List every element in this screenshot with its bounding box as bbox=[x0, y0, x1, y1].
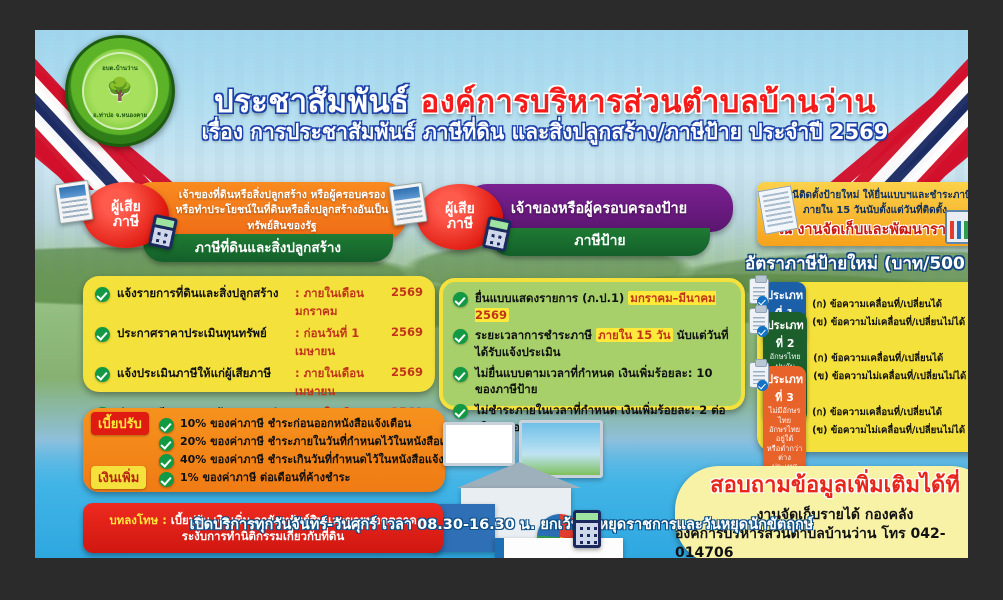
penalty-card: เบี้ยปรับ10% ของค่าภาษี ชำระก่อนออกหนังส… bbox=[83, 408, 445, 492]
check-icon bbox=[159, 454, 174, 469]
check-icon bbox=[453, 292, 468, 307]
monitor-chart-icon bbox=[945, 210, 968, 244]
land-tax-tag: ภาษีที่ดินและสิ่งปลูกสร้าง bbox=[143, 234, 393, 262]
penalty-tag-slot: เบี้ยปรับ bbox=[91, 412, 153, 435]
schedule-item-year: 2569 bbox=[387, 285, 423, 299]
logo-top-text: อบต.บ้านว่าน bbox=[84, 63, 156, 73]
document-icon-sign bbox=[388, 182, 427, 226]
logo-bottom-text: อ.ท่าบ่อ จ.หนองคาย bbox=[84, 110, 156, 120]
schedule-item-label: ประกาศราคาประเมินทุนทรัพย์ bbox=[117, 325, 295, 343]
sign-rate-table-card: ประเภทที่ 1อักษรไทยล้วน(ก) ข้อความเคลื่อ… bbox=[757, 282, 968, 452]
rate-label-b: (ข) ข้อความไม่เคลื่อนที่/เปลี่ยนไม่ได้ bbox=[813, 369, 966, 384]
rate-category-subtitle: ไม่มีอักษรไทย อักษรไทยอยู่ใต้ หรือต่ำกว่… bbox=[766, 406, 803, 472]
calculator-icon-illustration bbox=[573, 510, 601, 548]
sign-tax-item-text: ยื่นแบบแสดงรายการ (ภ.ป.1) bbox=[475, 291, 628, 305]
rate-category-title: ประเภทที่ 3 bbox=[766, 370, 803, 406]
sign-tax-item-highlight: ภายใน 15 วัน bbox=[596, 328, 673, 342]
check-icon bbox=[453, 367, 468, 382]
contact-heading: สอบถามข้อมูลเพิ่มเติมได้ที่ bbox=[710, 467, 960, 502]
sign-tax-item-text: ระยะเวลาการชำระภาษี bbox=[475, 328, 596, 342]
page-subtitle: เรื่อง การประชาสัมพันธ์ ภาษีที่ดิน และสิ… bbox=[195, 116, 895, 149]
notebook-icon bbox=[495, 538, 623, 558]
document-icon-land bbox=[54, 180, 93, 224]
schedule-item: ประกาศราคาประเมินทุนทรัพย์: ก่อนวันที่ 1… bbox=[95, 325, 423, 361]
new-sign-notice-box: กรณีติดตั้งป้ายใหม่ ให้ยื่นแบบฯและชำระภา… bbox=[757, 182, 968, 246]
municipality-logo: อบต.บ้านว่าน 🌳 อ.ท่าบ่อ จ.หนองคาย bbox=[65, 35, 175, 147]
sign-tax-tag: ภาษีป้าย bbox=[490, 228, 710, 256]
taxpayer-badge-sign-line2: ภาษี bbox=[447, 217, 473, 232]
sign-tax-card: ยื่นแบบแสดงรายการ (ภ.ป.1) มกราคม–มีนาคม … bbox=[439, 278, 745, 410]
penalty-tag-slot: เงินเพิ่ม bbox=[91, 466, 153, 489]
poster-header: อบต.บ้านว่าน 🌳 อ.ท่าบ่อ จ.หนองคาย ประชาส… bbox=[35, 30, 968, 148]
rate-label-b: (ข) ข้อความไม่เคลื่อนที่/เปลี่ยนไม่ได้ bbox=[812, 315, 965, 330]
rate-label-a: (ก) ข้อความเคลื่อนที่/เปลี่ยนได้ bbox=[812, 297, 965, 312]
title-blue-part: ประชาสัมพันธ์ bbox=[214, 84, 409, 120]
sign-tax-list: ยื่นแบบแสดงรายการ (ภ.ป.1) มกราคม–มีนาคม … bbox=[453, 290, 731, 435]
check-icon bbox=[453, 404, 468, 419]
check-icon bbox=[95, 367, 110, 382]
check-icon bbox=[159, 436, 174, 451]
taxpayer-badge-sign-line1: ผู้เสีย bbox=[445, 202, 475, 217]
schedule-item-label: แจ้งรายการที่ดินและสิ่งปลูกสร้าง bbox=[117, 285, 295, 303]
penalty-row: เบี้ยปรับ10% ของค่าภาษี ชำระก่อนออกหนังส… bbox=[91, 414, 437, 432]
taxpayer-badge-land-line2: ภาษี bbox=[113, 215, 139, 230]
title-red-part: องค์การบริหารส่วนตำบลบ้านว่าน bbox=[421, 84, 876, 120]
billboard-blank-icon bbox=[443, 422, 515, 466]
check-icon bbox=[159, 418, 174, 433]
land-tax-tag-label: ภาษีที่ดินและสิ่งปลูกสร้าง bbox=[195, 236, 341, 258]
service-hours-text: เปิดบริการทุกวันจันทร์-วันศุกร์ เวลา 08.… bbox=[35, 513, 968, 536]
schedule-item-when: : ก่อนวันที่ 1 เมษายน bbox=[295, 325, 387, 361]
notice-line-3: ณ งานจัดเก็บและพัฒนารายได้ bbox=[779, 218, 968, 241]
penalty-rows: เบี้ยปรับ10% ของค่าภาษี ชำระก่อนออกหนังส… bbox=[91, 414, 437, 486]
penalty-text: 1% ของค่าภาษี ต่อเดือนที่ค้างชำระ bbox=[180, 468, 350, 486]
rate-labels: (ก) ข้อความเคลื่อนที่/เปลี่ยนได้(ข) ข้อค… bbox=[813, 351, 966, 384]
land-tax-schedule-card: แจ้งรายการที่ดินและสิ่งปลูกสร้าง: ภายในเ… bbox=[83, 276, 435, 392]
rate-category-title: ประเภทที่ 2 bbox=[766, 316, 804, 352]
schedule-item-when: : ภายในเดือน เมษายน bbox=[295, 365, 387, 401]
contact-card: สอบถามข้อมูลเพิ่มเติมได้ที่ งานจัดเก็บรา… bbox=[675, 466, 968, 558]
check-icon bbox=[95, 327, 110, 342]
check-icon bbox=[159, 472, 174, 487]
rate-labels: (ก) ข้อความเคลื่อนที่/เปลี่ยนได้(ข) ข้อค… bbox=[812, 405, 965, 438]
surcharge-label: เงินเพิ่ม bbox=[91, 466, 146, 489]
rate-table-row: ประเภทที่ 3ไม่มีอักษรไทย อักษรไทยอยู่ใต้… bbox=[763, 397, 968, 445]
check-icon bbox=[95, 287, 110, 302]
sign-tax-item-text: ไม่ยื่นแบบตามเวลาที่กำหนด เงินเพิ่มร้อยล… bbox=[475, 366, 712, 397]
penalty-row: เงินเพิ่ม1% ของค่าภาษี ต่อเดือนที่ค้างชำ… bbox=[91, 468, 437, 486]
schedule-item: แจ้งรายการที่ดินและสิ่งปลูกสร้าง: ภายในเ… bbox=[95, 285, 423, 321]
fine-label: เบี้ยปรับ bbox=[91, 412, 149, 435]
poster-canvas: อบต.บ้านว่าน 🌳 อ.ท่าบ่อ จ.หนองคาย ประชาส… bbox=[35, 30, 968, 558]
schedule-item-when: : ภายในเดือน มกราคม bbox=[295, 285, 387, 321]
penalty-row: 20% ของค่าภาษี ชำระภายในวันที่กำหนดไว้ใน… bbox=[91, 432, 437, 450]
taxpayer-badge-land-line1: ผู้เสีย bbox=[111, 200, 141, 215]
schedule-item: แจ้งประเมินภาษีให้แก่ผู้เสียภาษี: ภายในเ… bbox=[95, 365, 423, 401]
schedule-item-label: แจ้งประเมินภาษีให้แก่ผู้เสียภาษี bbox=[117, 365, 295, 383]
land-taxpayer-description: เจ้าของที่ดินหรือสิ่งปลูกสร้าง หรือผู้คร… bbox=[176, 188, 389, 234]
rate-label-a: (ก) ข้อความเคลื่อนที่/เปลี่ยนได้ bbox=[813, 351, 966, 366]
sign-tax-tag-label: ภาษีป้าย bbox=[574, 230, 625, 252]
rate-table-rows: ประเภทที่ 1อักษรไทยล้วน(ก) ข้อความเคลื่อ… bbox=[763, 289, 968, 445]
clipboard-photo-icon bbox=[757, 185, 798, 234]
rate-labels: (ก) ข้อความเคลื่อนที่/เปลี่ยนได้(ข) ข้อค… bbox=[812, 297, 965, 330]
tax-illustration bbox=[433, 418, 668, 558]
tree-icon: 🌳 bbox=[106, 77, 133, 102]
rate-category: ประเภทที่ 3ไม่มีอักษรไทย อักษรไทยอยู่ใต้… bbox=[763, 366, 806, 476]
schedule-item-year: 2569 bbox=[387, 325, 423, 339]
sign-taxpayer-description: เจ้าของหรือผู้ครอบครองป้าย bbox=[511, 197, 687, 220]
rate-table-title: อัตราภาษีป้ายใหม่ (บาท/500 ตร.ซม.) bbox=[745, 250, 968, 277]
notice-line-1: กรณีติดตั้งป้ายใหม่ ให้ยื่นแบบฯและชำระภา… bbox=[778, 188, 968, 203]
rate-label-b: (ข) ข้อความไม่เคลื่อนที่/เปลี่ยนไม่ได้ bbox=[812, 423, 965, 438]
schedule-item-year: 2569 bbox=[387, 365, 423, 379]
house-roof-icon bbox=[457, 462, 581, 488]
penalty-text: 10% ของค่าภาษี ชำระก่อนออกหนังสือแจ้งเตื… bbox=[180, 414, 411, 432]
notice-line-2: ภายใน 15 วันนับตั้งแต่วันที่ติดตั้ง bbox=[803, 203, 947, 218]
check-icon bbox=[453, 329, 468, 344]
sign-tax-item: ไม่ยื่นแบบตามเวลาที่กำหนด เงินเพิ่มร้อยล… bbox=[453, 365, 731, 398]
penalty-text: 40% ของค่าภาษี ชำระเกินวันที่กำหนดไว้ในห… bbox=[180, 450, 469, 468]
sign-tax-item: ระยะเวลาการชำระภาษี ภายใน 15 วัน นับแต่ว… bbox=[453, 327, 731, 360]
sign-tax-item: ยื่นแบบแสดงรายการ (ภ.ป.1) มกราคม–มีนาคม … bbox=[453, 290, 731, 323]
rate-label-a: (ก) ข้อความเคลื่อนที่/เปลี่ยนได้ bbox=[812, 405, 965, 420]
